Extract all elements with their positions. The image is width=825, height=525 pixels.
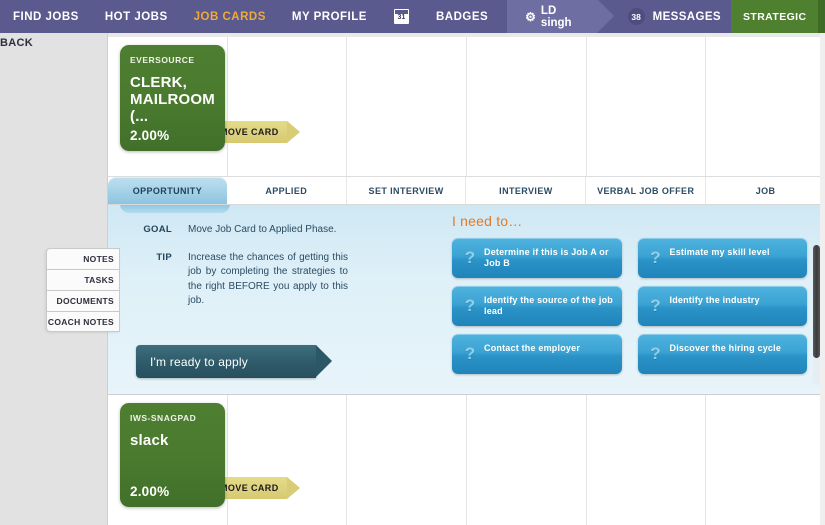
cell-verbal-job-offer-row2[interactable] bbox=[587, 395, 707, 525]
nav-item-find-jobs[interactable]: FIND JOBS bbox=[0, 0, 92, 33]
cell-job-row2[interactable] bbox=[706, 395, 825, 525]
strategies-scrollbar-thumb[interactable] bbox=[813, 245, 820, 358]
cell-set-interview-row1[interactable] bbox=[347, 37, 467, 176]
messages-label: MESSAGES bbox=[653, 11, 721, 23]
strategy-contact-the-employer[interactable]: ? Contact the employer bbox=[452, 334, 622, 374]
cell-applied-row1[interactable] bbox=[228, 37, 348, 176]
cell-applied-row2[interactable] bbox=[228, 395, 348, 525]
gear-icon: ⚙ bbox=[525, 10, 536, 24]
strategic-score[interactable]: ▼ 3.89 bbox=[818, 0, 825, 33]
strategies-column-left: ? Determine if this is Job A or Job B ? … bbox=[452, 238, 622, 374]
tip-label: TIP bbox=[126, 251, 172, 309]
ready-to-apply-button[interactable]: I'm ready to apply bbox=[136, 345, 316, 378]
nav-item-hot-jobs-label: HOT JOBS bbox=[105, 11, 168, 23]
calendar-button[interactable]: 31 bbox=[380, 0, 423, 33]
strategic-label: STRATEGIC bbox=[731, 0, 819, 33]
goal-label: GOAL bbox=[126, 223, 172, 238]
job-card-1[interactable]: EVERSOURCE CLERK, MAILROOM (... 2.00% bbox=[120, 45, 225, 151]
nav-item-hot-jobs[interactable]: HOT JOBS bbox=[92, 0, 181, 33]
strategies-scrollbar[interactable] bbox=[813, 245, 820, 385]
detail-panel-notch bbox=[120, 204, 230, 213]
strategy-estimate-my-skill-level-label: Estimate my skill level bbox=[670, 238, 770, 258]
tab-interview-label: INTERVIEW bbox=[499, 186, 552, 196]
nav-item-my-profile-label: MY PROFILE bbox=[292, 11, 367, 23]
question-mark-icon: ? bbox=[646, 248, 666, 268]
question-mark-icon: ? bbox=[646, 296, 666, 316]
nav-item-my-profile[interactable]: MY PROFILE bbox=[279, 0, 380, 33]
cell-interview-row1[interactable] bbox=[467, 37, 587, 176]
ready-to-apply-label: I'm ready to apply bbox=[150, 355, 248, 369]
user-menu-button[interactable]: ⚙ LD singh bbox=[507, 0, 597, 33]
board-row-1: MOVE CARD EVERSOURCE CLERK, MAILROOM (..… bbox=[108, 37, 825, 177]
sidebar-item-coach-notes-label: COACH NOTES bbox=[48, 317, 114, 327]
cell-set-interview-row2[interactable] bbox=[347, 395, 467, 525]
user-name-label: LD singh bbox=[541, 5, 572, 29]
back-link[interactable]: BACK bbox=[0, 37, 33, 49]
question-mark-icon: ? bbox=[460, 344, 480, 364]
page-scrollbar[interactable] bbox=[820, 33, 825, 525]
goal-tip-block: GOAL Move Job Card to Applied Phase. TIP… bbox=[126, 223, 436, 322]
sidebar-item-tasks-label: TASKS bbox=[84, 275, 114, 285]
strategy-determine-job-a-or-b-label: Determine if this is Job A or Job B bbox=[484, 238, 622, 269]
cell-interview-row2[interactable] bbox=[467, 395, 587, 525]
tip-text: Increase the chances of getting this job… bbox=[188, 251, 348, 309]
job-card-1-company: EVERSOURCE bbox=[130, 55, 215, 65]
strategies-panel: I need to… ? Determine if this is Job A … bbox=[452, 213, 807, 388]
strategy-identify-source-of-job-lead[interactable]: ? Identify the source of the job lead bbox=[452, 286, 622, 326]
job-card-1-title: CLERK, MAILROOM (... bbox=[130, 74, 215, 128]
cell-job-row1[interactable] bbox=[706, 37, 825, 176]
sidebar-item-documents[interactable]: DOCUMENTS bbox=[46, 290, 120, 311]
tab-set-interview-label: SET INTERVIEW bbox=[369, 186, 444, 196]
job-card-1-percent: 2.00% bbox=[130, 128, 215, 143]
strategy-identify-the-industry-label: Identify the industry bbox=[670, 286, 760, 306]
job-cards-board: MOVE CARD EVERSOURCE CLERK, MAILROOM (..… bbox=[108, 33, 825, 525]
tab-applied-label: APPLIED bbox=[265, 186, 307, 196]
sidebar-item-tasks[interactable]: TASKS bbox=[46, 269, 120, 290]
job-card-2-percent: 2.00% bbox=[130, 484, 215, 499]
tab-opportunity[interactable]: OPPORTUNITY bbox=[108, 177, 227, 204]
side-tab-group: NOTES TASKS DOCUMENTS COACH NOTES bbox=[46, 248, 120, 332]
messages-count-badge: 38 bbox=[628, 8, 645, 25]
sidebar-item-documents-label: DOCUMENTS bbox=[57, 296, 114, 306]
move-card-tag-1-label: MOVE CARD bbox=[220, 127, 279, 137]
tab-job-label: JOB bbox=[756, 186, 776, 196]
question-mark-icon: ? bbox=[646, 344, 666, 364]
phase-detail-panel: GOAL Move Job Card to Applied Phase. TIP… bbox=[108, 205, 825, 395]
i-need-to-heading: I need to… bbox=[452, 213, 807, 229]
job-card-2-title: slack bbox=[130, 432, 215, 484]
strategy-discover-the-hiring-cycle-label: Discover the hiring cycle bbox=[670, 334, 782, 354]
question-mark-icon: ? bbox=[460, 296, 480, 316]
job-card-2-company: IWS-SNAGPAD bbox=[130, 413, 215, 423]
sidebar-item-notes-label: NOTES bbox=[83, 254, 114, 264]
calendar-day-number: 31 bbox=[398, 13, 406, 23]
tab-job[interactable]: JOB bbox=[706, 177, 825, 204]
goal-text: Move Job Card to Applied Phase. bbox=[188, 223, 348, 238]
cell-verbal-job-offer-row1[interactable] bbox=[587, 37, 707, 176]
tip-row: TIP Increase the chances of getting this… bbox=[126, 251, 436, 309]
top-navigation-bar: FIND JOBS HOT JOBS JOB CARDS MY PROFILE … bbox=[0, 0, 825, 33]
board-row-2: MOVE CARD IWS-SNAGPAD slack 2.00% bbox=[108, 395, 825, 525]
phase-tab-bar: OPPORTUNITY APPLIED SET INTERVIEW INTERV… bbox=[108, 177, 825, 205]
strategy-estimate-my-skill-level[interactable]: ? Estimate my skill level bbox=[638, 238, 808, 278]
strategies-grid: ? Determine if this is Job A or Job B ? … bbox=[452, 238, 807, 374]
move-card-tag-2-label: MOVE CARD bbox=[220, 483, 279, 493]
tab-opportunity-label: OPPORTUNITY bbox=[133, 186, 202, 196]
sidebar-item-coach-notes[interactable]: COACH NOTES bbox=[46, 311, 120, 332]
calendar-icon: 31 bbox=[394, 9, 409, 24]
nav-item-find-jobs-label: FIND JOBS bbox=[13, 11, 79, 23]
messages-button[interactable]: 38 MESSAGES bbox=[628, 0, 731, 33]
tab-verbal-job-offer-label: VERBAL JOB OFFER bbox=[597, 186, 694, 196]
question-mark-icon: ? bbox=[460, 248, 480, 268]
strategies-column-right: ? Estimate my skill level ? Identify the… bbox=[638, 238, 808, 374]
tab-set-interview[interactable]: SET INTERVIEW bbox=[347, 177, 467, 204]
nav-item-job-cards[interactable]: JOB CARDS bbox=[181, 0, 279, 33]
sidebar-item-notes[interactable]: NOTES bbox=[46, 248, 120, 269]
tab-verbal-job-offer[interactable]: VERBAL JOB OFFER bbox=[586, 177, 706, 204]
strategy-determine-job-a-or-b[interactable]: ? Determine if this is Job A or Job B bbox=[452, 238, 622, 278]
tab-interview[interactable]: INTERVIEW bbox=[466, 177, 586, 204]
goal-row: GOAL Move Job Card to Applied Phase. bbox=[126, 223, 436, 238]
strategy-contact-the-employer-label: Contact the employer bbox=[484, 334, 580, 354]
job-card-2[interactable]: IWS-SNAGPAD slack 2.00% bbox=[120, 403, 225, 507]
nav-item-job-cards-label: JOB CARDS bbox=[194, 11, 266, 23]
strategy-identify-the-industry[interactable]: ? Identify the industry bbox=[638, 286, 808, 326]
tab-applied[interactable]: APPLIED bbox=[227, 177, 347, 204]
strategy-identify-source-of-job-lead-label: Identify the source of the job lead bbox=[484, 286, 622, 317]
strategic-text: STRATEGIC bbox=[743, 11, 807, 23]
nav-item-badges[interactable]: BADGES bbox=[423, 0, 501, 33]
strategy-discover-the-hiring-cycle[interactable]: ? Discover the hiring cycle bbox=[638, 334, 808, 374]
nav-item-badges-label: BADGES bbox=[436, 11, 488, 23]
